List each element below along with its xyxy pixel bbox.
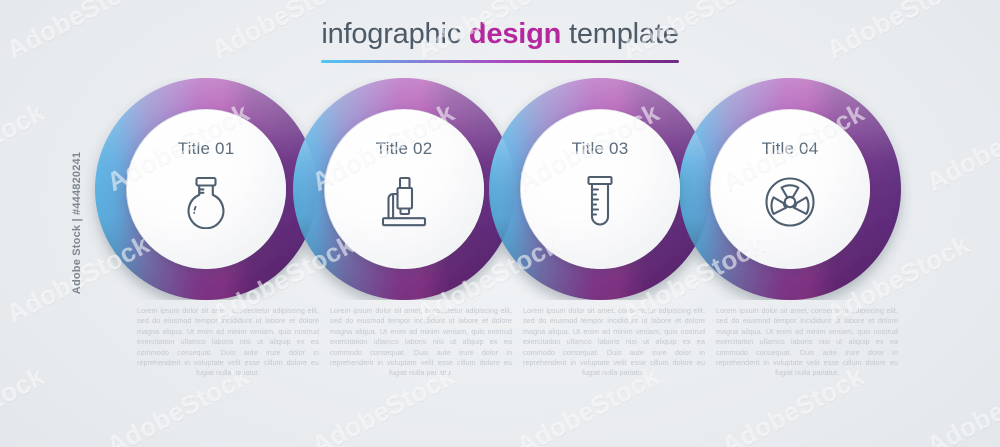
page-title-part1: infographic [321, 18, 469, 50]
page-title-part2: template [561, 18, 679, 50]
step-card-2[interactable]: Title 02 [325, 110, 484, 269]
step-title-3: Title 03 [572, 140, 629, 157]
description-text-2: Lorem ipsum dolor sit amet, consectetur … [330, 306, 512, 379]
test-tube-icon [569, 171, 631, 233]
stock-id-watermark: Adobe Stock | #444820241 [71, 152, 83, 294]
page-title-accent: design [469, 18, 561, 50]
description-column-1: Lorem ipsum dolor sit amet, consectetur … [137, 306, 319, 379]
page-title: infographic design template [0, 18, 1000, 51]
step-title-2: Title 02 [376, 140, 433, 157]
round-flask-icon [175, 171, 237, 233]
step-card-1[interactable]: Title 01 [127, 110, 286, 269]
description-column-3: Lorem ipsum dolor sit amet, consectetur … [523, 306, 705, 379]
title-underline-rule [321, 60, 679, 63]
description-column-4: Lorem ipsum dolor sit amet, consectetur … [716, 306, 898, 379]
description-column-2: Lorem ipsum dolor sit amet, consectetur … [330, 306, 512, 379]
step-card-4[interactable]: Title 04 [711, 110, 870, 269]
header: infographic design template [0, 18, 1000, 63]
microscope-icon [373, 171, 435, 233]
description-text-3: Lorem ipsum dolor sit amet, consectetur … [523, 306, 705, 379]
step-card-3[interactable]: Title 03 [521, 110, 680, 269]
radiation-icon [759, 171, 821, 233]
description-text-1: Lorem ipsum dolor sit amet, consectetur … [137, 306, 319, 379]
description-columns: Lorem ipsum dolor sit amet, consectetur … [0, 306, 1000, 426]
step-title-4: Title 04 [762, 140, 819, 157]
description-text-4: Lorem ipsum dolor sit amet, consectetur … [716, 306, 898, 379]
step-title-1: Title 01 [178, 140, 235, 157]
